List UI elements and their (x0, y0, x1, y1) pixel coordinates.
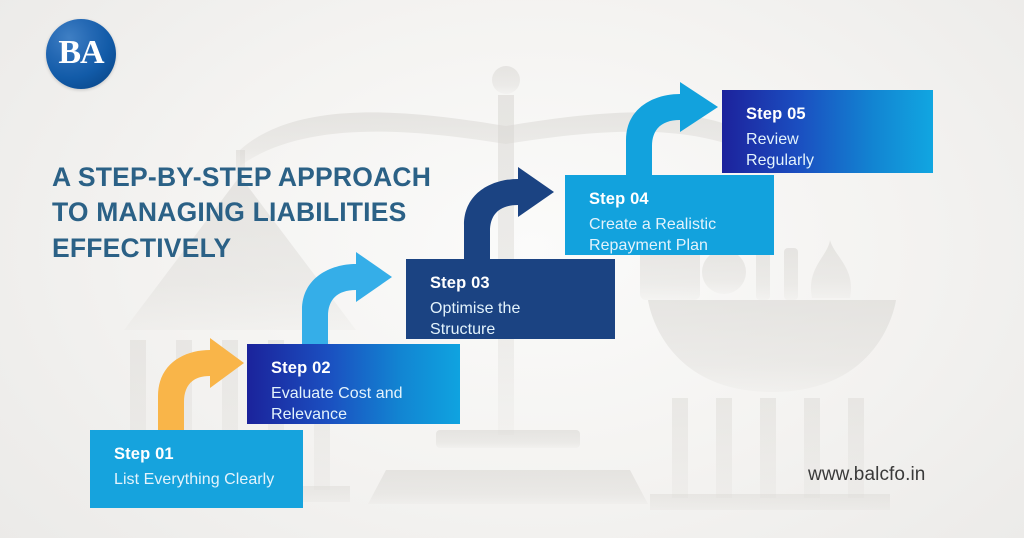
step-card-5[interactable]: Step 05 Review Regularly (722, 90, 933, 173)
step-card-3-title: Step 03 (430, 274, 615, 294)
step-card-4-desc: Create a Realistic Repayment Plan (589, 214, 774, 255)
step-card-3[interactable]: Step 03 Optimise the Structure (406, 259, 615, 339)
page-title-line-1: A STEP-BY-STEP APPROACH (52, 160, 482, 196)
arrow-step3-to-step4 (450, 165, 558, 271)
brand-logo: BA (46, 19, 116, 89)
arrow-step4-to-step5 (612, 80, 722, 186)
step-card-2-title: Step 02 (271, 359, 460, 379)
page-title-line-2: TO MANAGING LIABILITIES (52, 195, 482, 231)
logo-monogram-text: BA (46, 19, 116, 89)
step-card-3-desc: Optimise the Structure (430, 298, 615, 339)
arrow-step2-to-step3 (288, 250, 396, 356)
step-card-4[interactable]: Step 04 Create a Realistic Repayment Pla… (565, 175, 774, 255)
infographic-canvas: BA A STEP-BY-STEP APPROACH TO MANAGING L… (0, 0, 1024, 538)
step-card-1[interactable]: Step 01 List Everything Clearly (90, 430, 303, 508)
arrow-step1-to-step2 (144, 334, 248, 442)
step-card-2-desc: Evaluate Cost and Relevance (271, 383, 460, 424)
step-card-1-title: Step 01 (114, 445, 303, 465)
step-card-5-title: Step 05 (746, 105, 933, 125)
website-url[interactable]: www.balcfo.in (808, 464, 925, 486)
step-card-4-title: Step 04 (589, 190, 774, 210)
page-title: A STEP-BY-STEP APPROACH TO MANAGING LIAB… (52, 160, 482, 267)
step-card-2[interactable]: Step 02 Evaluate Cost and Relevance (247, 344, 460, 424)
step-card-1-desc: List Everything Clearly (114, 469, 303, 490)
step-card-5-desc: Review Regularly (746, 129, 933, 172)
